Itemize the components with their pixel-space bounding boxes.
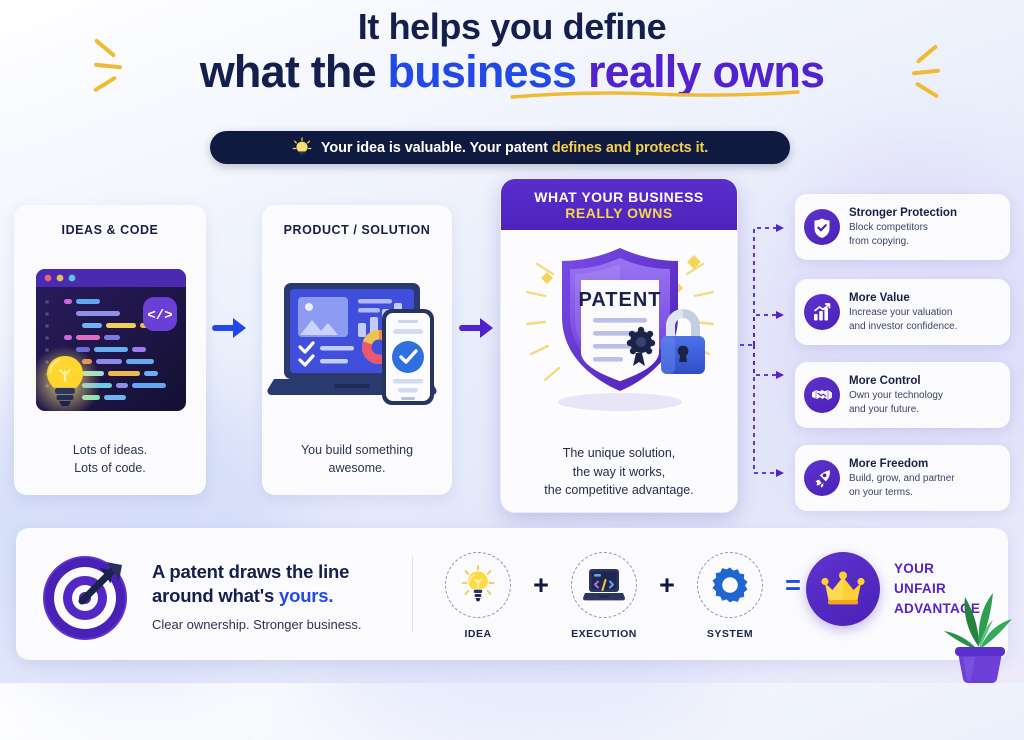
potted-plant-icon — [942, 573, 1016, 683]
equation-operator-plus-1: + — [528, 552, 554, 618]
center-card-header: WHAT YOUR BUSINESS REALLY OWNS — [501, 179, 737, 230]
svg-text:PATENT: PATENT — [578, 289, 661, 311]
benefit-title: More Control — [849, 374, 1001, 388]
sparkle-left-icon — [84, 42, 134, 94]
target-dart-icon — [38, 546, 136, 644]
caption-line-2: awesome. — [262, 459, 452, 477]
subtitle-highlight: defines and protects it. — [552, 140, 708, 156]
benefit-text: More Freedom Build, grow, and partner on… — [849, 457, 1001, 500]
center-header-line-2: REALLY OWNS — [565, 205, 672, 221]
equation-operator-equals: = — [780, 552, 806, 618]
bottom-tagline-text: A patent draws the line around what's yo… — [152, 558, 362, 631]
stage-card-product-solution[interactable]: PRODUCT / SOLUTION — [262, 205, 452, 495]
benefit-text: Stronger Protection Block competitors fr… — [849, 206, 1001, 249]
caption-line-1: You build something — [262, 441, 452, 459]
stage-card-caption: You build something awesome. — [262, 441, 452, 477]
equation-label: EXECUTION — [560, 628, 648, 640]
stage-card-ideas-and-code[interactable]: IDEAS & CODE — [14, 205, 206, 495]
benefit-desc-line-2: and investor confidence. — [849, 320, 1001, 333]
benefit-desc-line-2: and your future. — [849, 403, 1001, 416]
page-header: It helps you define what the business re… — [0, 8, 1024, 95]
benefit-desc-line-1: Block competitors — [849, 221, 1001, 234]
equation-circle — [445, 552, 511, 618]
title-what-the: what the — [200, 46, 388, 97]
benefit-card-more-freedom[interactable]: More Freedom Build, grow, and partner on… — [795, 445, 1010, 511]
lightbulb-icon — [461, 565, 495, 605]
bottom-summary-bar: A patent draws the line around what's yo… — [16, 528, 1008, 660]
sparkle-right-icon — [902, 48, 952, 100]
benefit-card-more-control[interactable]: More Control Own your technology and you… — [795, 362, 1010, 428]
benefit-text: More Control Own your technology and you… — [849, 374, 1001, 417]
crown-badge — [806, 552, 880, 626]
bottom-headline-line-2: around what's yours. — [152, 584, 362, 608]
stage-card-title: PRODUCT / SOLUTION — [262, 223, 452, 237]
equation-circle — [697, 552, 763, 618]
title-line-2: what the business really owns — [200, 48, 825, 95]
equation-label: SYSTEM — [686, 628, 774, 640]
subtitle-text: Your idea is valuable. Your patent defin… — [321, 140, 708, 156]
benefit-text: More Value Increase your valuation and i… — [849, 291, 1001, 334]
benefit-title: Stronger Protection — [849, 206, 1001, 220]
headline-around: around what's — [152, 585, 279, 606]
code-editor-illustration: </> — [14, 247, 206, 437]
benefit-card-more-value[interactable]: More Value Increase your valuation and i… — [795, 279, 1010, 345]
benefit-card-stronger-protection[interactable]: Stronger Protection Block competitors fr… — [795, 194, 1010, 260]
equation-item-execution: EXECUTION — [560, 552, 648, 640]
center-card-what-business-owns[interactable]: WHAT YOUR BUSINESS REALLY OWNS — [500, 178, 738, 513]
caption-line-1: Lots of ideas. — [14, 441, 206, 459]
gear-icon — [711, 566, 749, 604]
benefit-desc-line-1: Own your technology — [849, 389, 1001, 402]
equation-circle — [571, 552, 637, 618]
equation-item-idea: IDEA — [434, 552, 522, 640]
title-line-1: It helps you define — [0, 8, 1024, 46]
bottom-divider — [412, 556, 413, 632]
svg-text:</>: </> — [147, 308, 172, 324]
caption-line-2: Lots of code. — [14, 459, 206, 477]
stage-card-title: IDEAS & CODE — [14, 223, 206, 237]
arrow-stage2-to-center-icon — [458, 313, 498, 343]
bottom-tagline-group: A patent draws the line around what's yo… — [38, 546, 362, 644]
equation-label: IDEA — [434, 628, 522, 640]
equation-operator-plus-2: + — [654, 552, 680, 618]
patent-shield-illustration: PATENT — [501, 230, 737, 425]
subtitle-plain: Your idea is valuable. Your patent — [321, 140, 552, 156]
center-header-line-1: WHAT YOUR BUSINESS — [534, 189, 704, 205]
benefit-desc-line-1: Increase your valuation — [849, 306, 1001, 319]
benefit-desc-line-2: from copying. — [849, 235, 1001, 248]
lightbulb-icon — [292, 137, 312, 159]
center-caption-line-1: The unique solution, — [501, 444, 737, 463]
laptop-code-icon — [583, 566, 625, 604]
benefit-desc-line-1: Build, grow, and partner — [849, 472, 1001, 485]
benefit-title: More Freedom — [849, 457, 1001, 471]
headline-yours: yours. — [279, 585, 333, 606]
bar-chart-growth-icon — [804, 294, 840, 330]
shield-check-icon — [804, 209, 840, 245]
equation-item-system: SYSTEM — [686, 552, 774, 640]
rocket-icon — [804, 460, 840, 496]
equation-group: IDEA + EXECUTION + — [434, 552, 806, 640]
benefit-desc-line-2: on your terms. — [849, 486, 1001, 499]
handshake-icon — [804, 377, 840, 413]
center-card-caption: The unique solution, the way it works, t… — [501, 444, 737, 500]
bottom-subline: Clear ownership. Stronger business. — [152, 617, 362, 632]
benefit-title: More Value — [849, 291, 1001, 305]
crown-icon — [821, 571, 865, 607]
bottom-headline-line-1: A patent draws the line — [152, 560, 362, 584]
laptop-phone-illustration — [262, 247, 452, 437]
stage-card-caption: Lots of ideas. Lots of code. — [14, 441, 206, 477]
title-underline-swoosh — [510, 90, 800, 99]
center-caption-line-3: the competitive advantage. — [501, 481, 737, 500]
center-caption-line-2: the way it works, — [501, 463, 737, 482]
dashed-connector-tree — [738, 190, 798, 510]
arrow-stage1-to-stage2-icon — [211, 313, 251, 343]
subtitle-banner: Your idea is valuable. Your patent defin… — [210, 131, 790, 164]
